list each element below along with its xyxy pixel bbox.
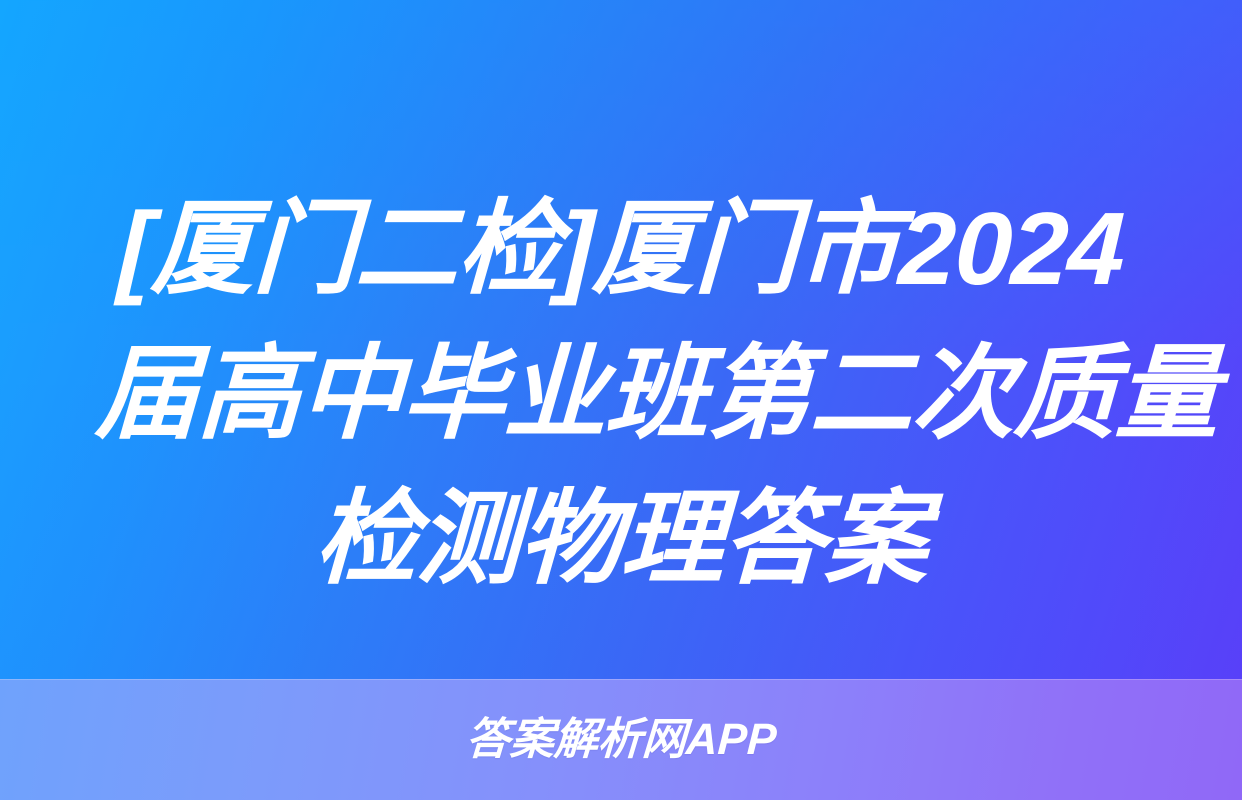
app-watermark-label: 答案解析网APP bbox=[465, 718, 778, 762]
page-title-line-1: [厦门二检]厦门市2024 bbox=[93, 176, 1148, 321]
exam-cover-card: [厦门二检]厦门市2024 届高中毕业班第二次质量 检测物理答案 答案解析网AP… bbox=[0, 0, 1242, 800]
footer-watermark-band: 答案解析网APP bbox=[0, 679, 1242, 800]
page-title-line-3: 检测物理答案 bbox=[93, 466, 1148, 611]
page-title-line-2: 届高中毕业班第二次质量 bbox=[93, 321, 1148, 466]
page-title: [厦门二检]厦门市2024 届高中毕业班第二次质量 检测物理答案 bbox=[0, 176, 1242, 611]
